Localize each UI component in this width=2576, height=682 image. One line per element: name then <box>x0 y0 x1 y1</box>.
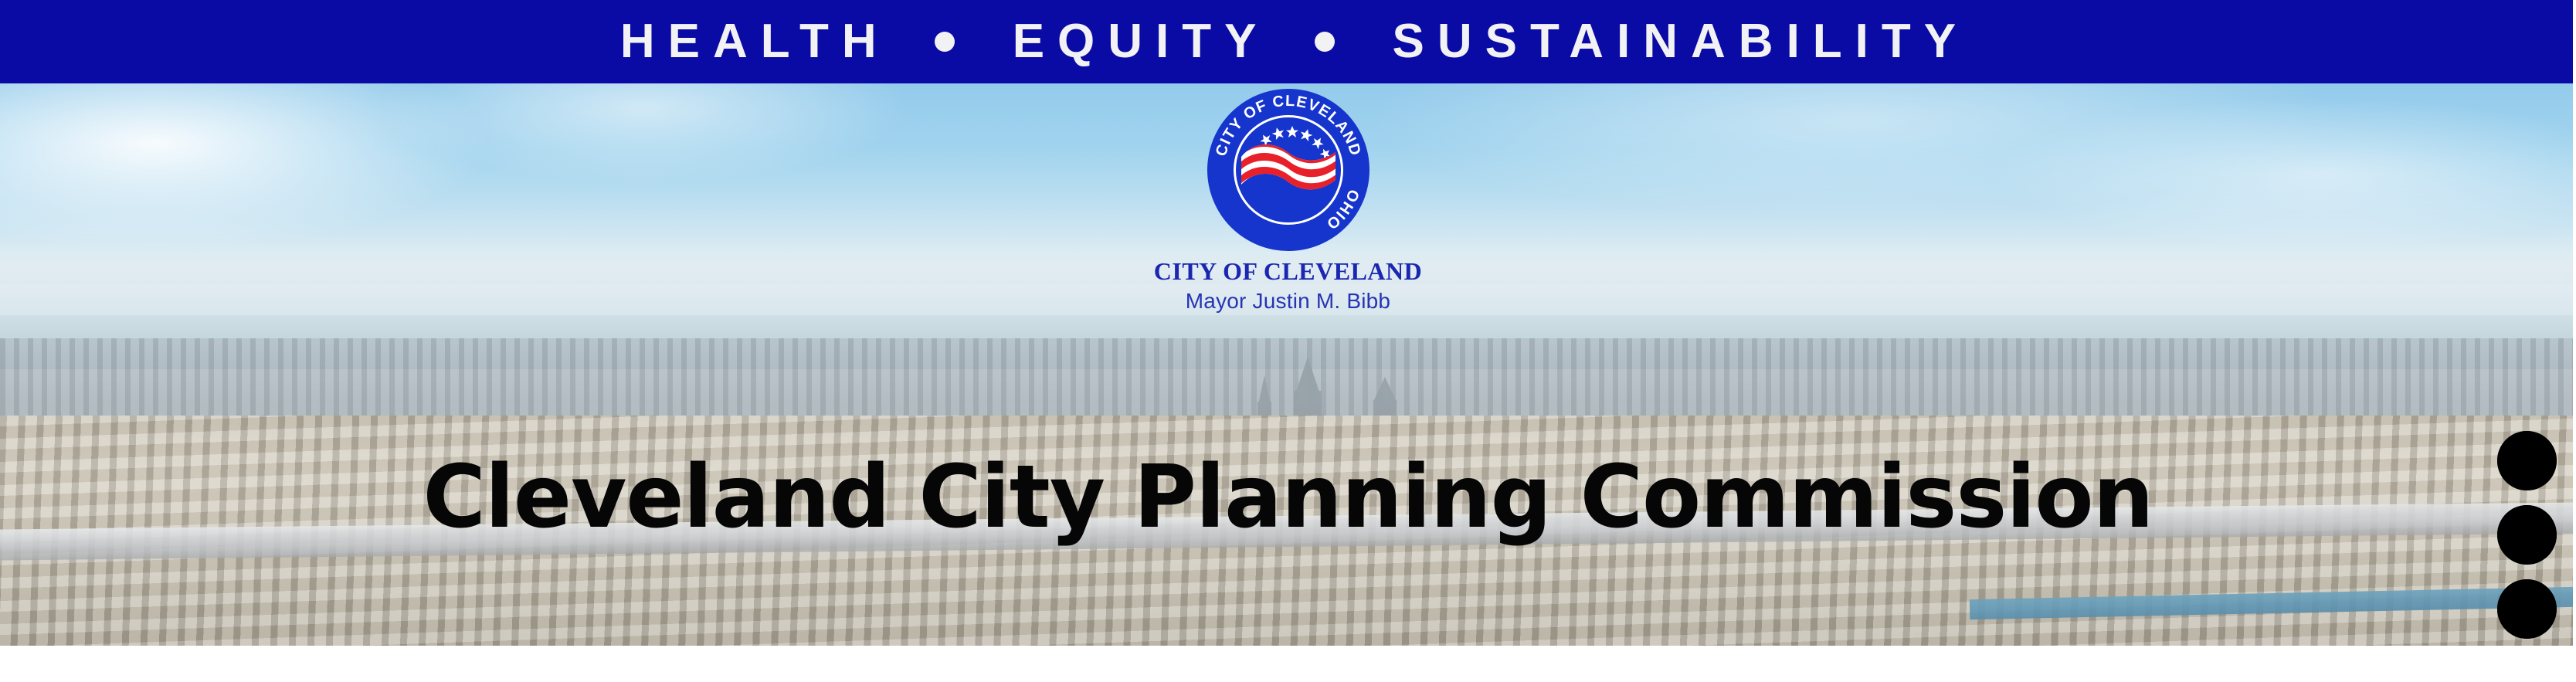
tagline-bar: HEALTH EQUITY SUSTAINABILITY <box>0 0 2576 83</box>
tagline-word-equity: EQUITY <box>1000 18 1270 66</box>
city-of-cleveland-seal-icon: CITY OF CLEVELAND OHIO <box>1207 89 1369 251</box>
seal-ring-bottom-label: OHIO <box>1322 187 1362 233</box>
page-root: HEALTH EQUITY SUSTAINABILITY <box>0 0 2576 682</box>
city-logo-block: CITY OF CLEVELAND OHIO CITY OF CLEVELAND… <box>0 89 2576 312</box>
instagram-icon[interactable] <box>2497 505 2557 565</box>
tagline-word-sustainability: SUSTAINABILITY <box>1380 18 1970 66</box>
bullet-dot-icon <box>935 32 955 52</box>
mayor-name-label: Mayor Justin M. Bibb <box>1186 290 1390 312</box>
bullet-dot-icon <box>1315 32 1335 52</box>
org-name-label: CITY OF CLEVELAND <box>1154 259 1423 283</box>
social-links-rail <box>2497 431 2557 639</box>
page-title: Cleveland City Planning Commission <box>13 454 2564 541</box>
facebook-icon[interactable] <box>2497 579 2557 639</box>
seal-ring-top-label: CITY OF CLEVELAND <box>1213 93 1364 158</box>
tagline-word-health: HEALTH <box>607 18 890 66</box>
seal-ring-text: CITY OF CLEVELAND OHIO <box>1207 89 1369 251</box>
bottom-white-strip <box>0 646 2576 682</box>
right-edge-strip <box>2573 0 2576 646</box>
youtube-icon[interactable] <box>2497 431 2557 490</box>
